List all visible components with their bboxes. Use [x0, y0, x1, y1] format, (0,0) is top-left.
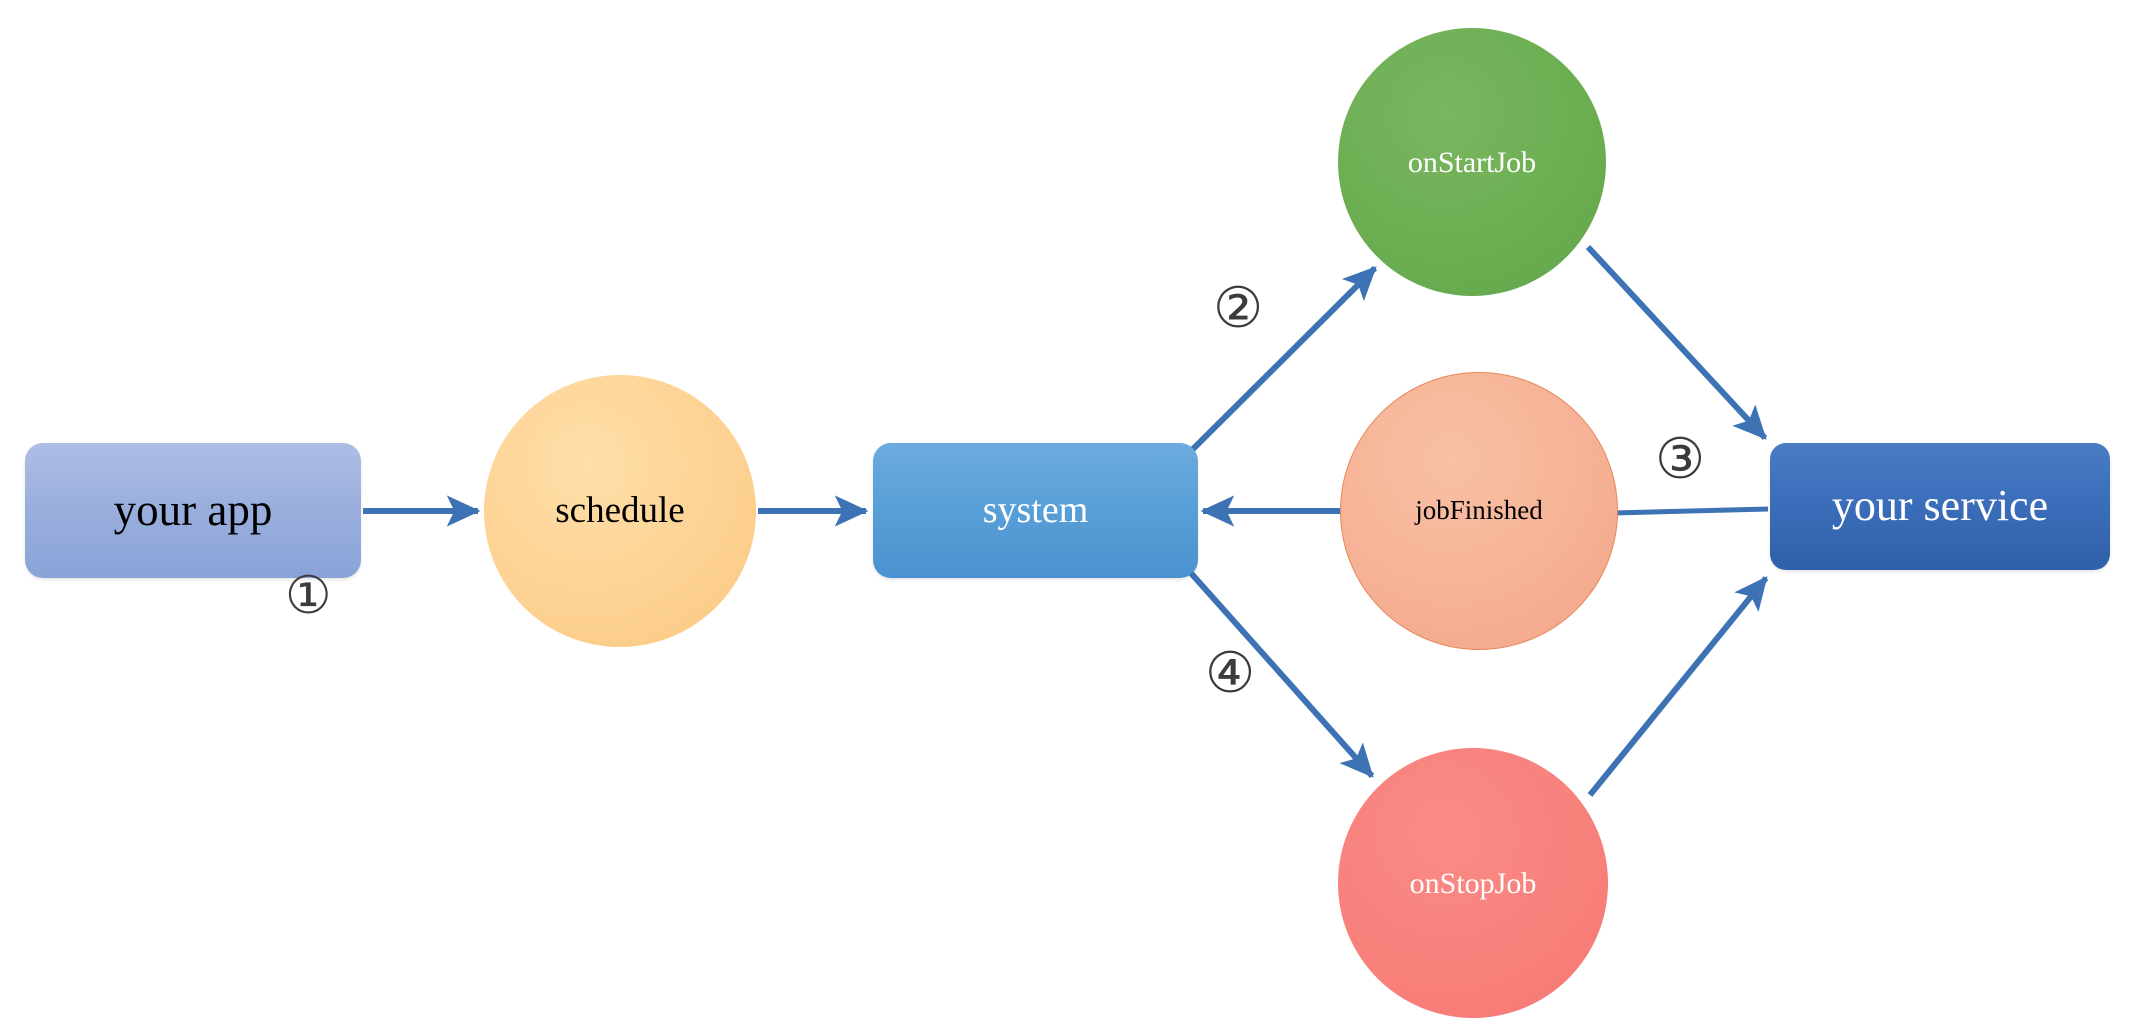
edge-onstartjob-to-your-service — [1588, 247, 1765, 438]
edge-onstopjob-to-your-service — [1590, 578, 1766, 795]
node-onstopjob[interactable]: onStopJob — [1338, 748, 1608, 1018]
node-your-service[interactable]: your service — [1770, 443, 2110, 570]
node-onstopjob-label: onStopJob — [1410, 867, 1537, 900]
step-marker-3: ③ — [1655, 432, 1705, 488]
node-onstartjob-label: onStartJob — [1408, 146, 1536, 179]
diagram-canvas: your app schedule system onStartJob jobF… — [0, 0, 2132, 1018]
node-your-service-label: your service — [1832, 482, 2048, 530]
node-system[interactable]: system — [873, 443, 1198, 578]
node-schedule-label: schedule — [555, 491, 684, 532]
node-onstartjob[interactable]: onStartJob — [1338, 28, 1606, 296]
node-schedule[interactable]: schedule — [484, 375, 756, 647]
node-your-app[interactable]: your app — [25, 443, 361, 578]
step-marker-1: ① — [285, 570, 332, 622]
node-jobfinished[interactable]: jobFinished — [1340, 372, 1618, 650]
step-marker-2: ② — [1213, 281, 1263, 337]
node-your-app-label: your app — [114, 486, 273, 536]
node-system-label: system — [983, 490, 1089, 532]
step-marker-4: ④ — [1205, 646, 1255, 702]
node-jobfinished-label: jobFinished — [1415, 496, 1543, 526]
edge-jobfinished-to-your-service — [1614, 509, 1768, 513]
